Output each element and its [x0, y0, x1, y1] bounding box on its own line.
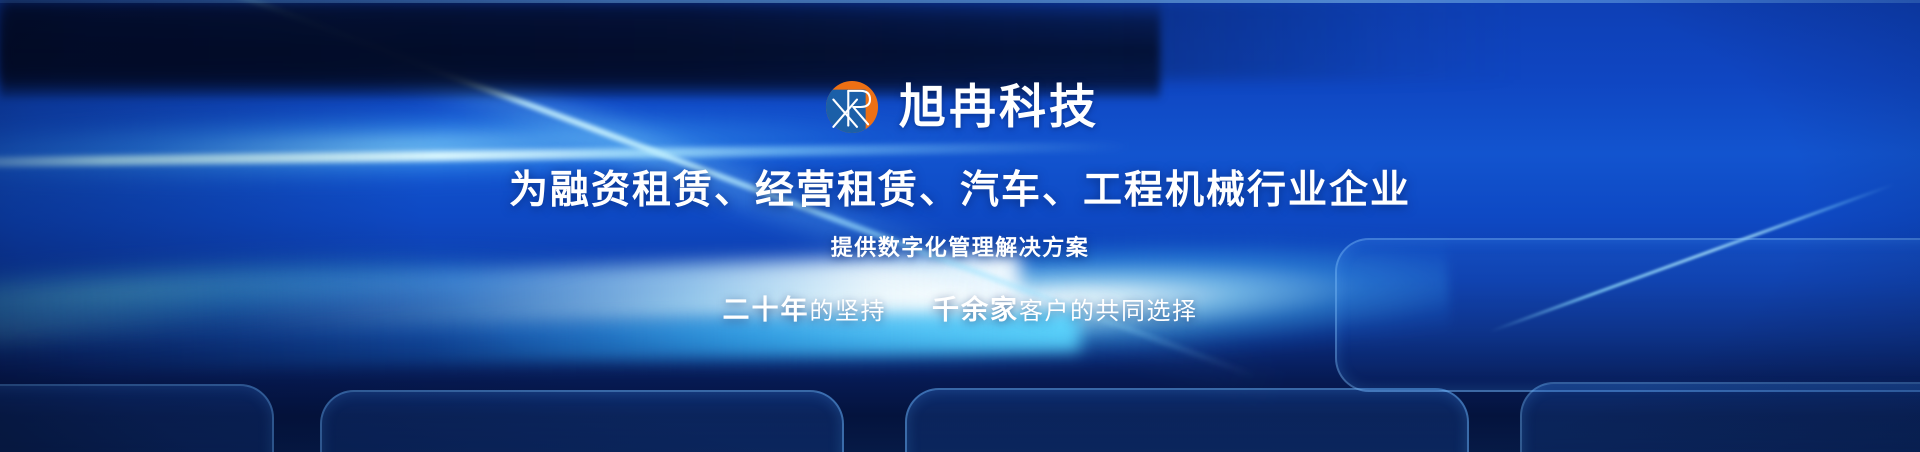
- xr-circle-logo-icon: [821, 76, 883, 138]
- tagline-clients-count: 千余家: [932, 288, 1019, 327]
- banner-tagline: 二十年 的坚持 千余家 客户的共同选择: [723, 288, 1198, 327]
- banner-subline: 提供数字化管理解决方案: [831, 238, 1090, 260]
- hero-banner: 旭冉科技 为融资租赁、经营租赁、汽车、工程机械行业企业 提供数字化管理解决方案 …: [0, 0, 1920, 452]
- brand-wordmark: 旭冉科技: [899, 84, 1099, 131]
- banner-content: 旭冉科技 为融资租赁、经营租赁、汽车、工程机械行业企业 提供数字化管理解决方案 …: [0, 0, 1920, 452]
- tagline-years-number: 二十年: [723, 288, 810, 327]
- tagline-years-label: 的坚持: [810, 291, 887, 326]
- brand-lockup: 旭冉科技: [821, 76, 1099, 138]
- banner-headline: 为融资租赁、经营租赁、汽车、工程机械行业企业: [509, 171, 1411, 210]
- tagline-clients-label: 客户的共同选择: [1019, 291, 1198, 326]
